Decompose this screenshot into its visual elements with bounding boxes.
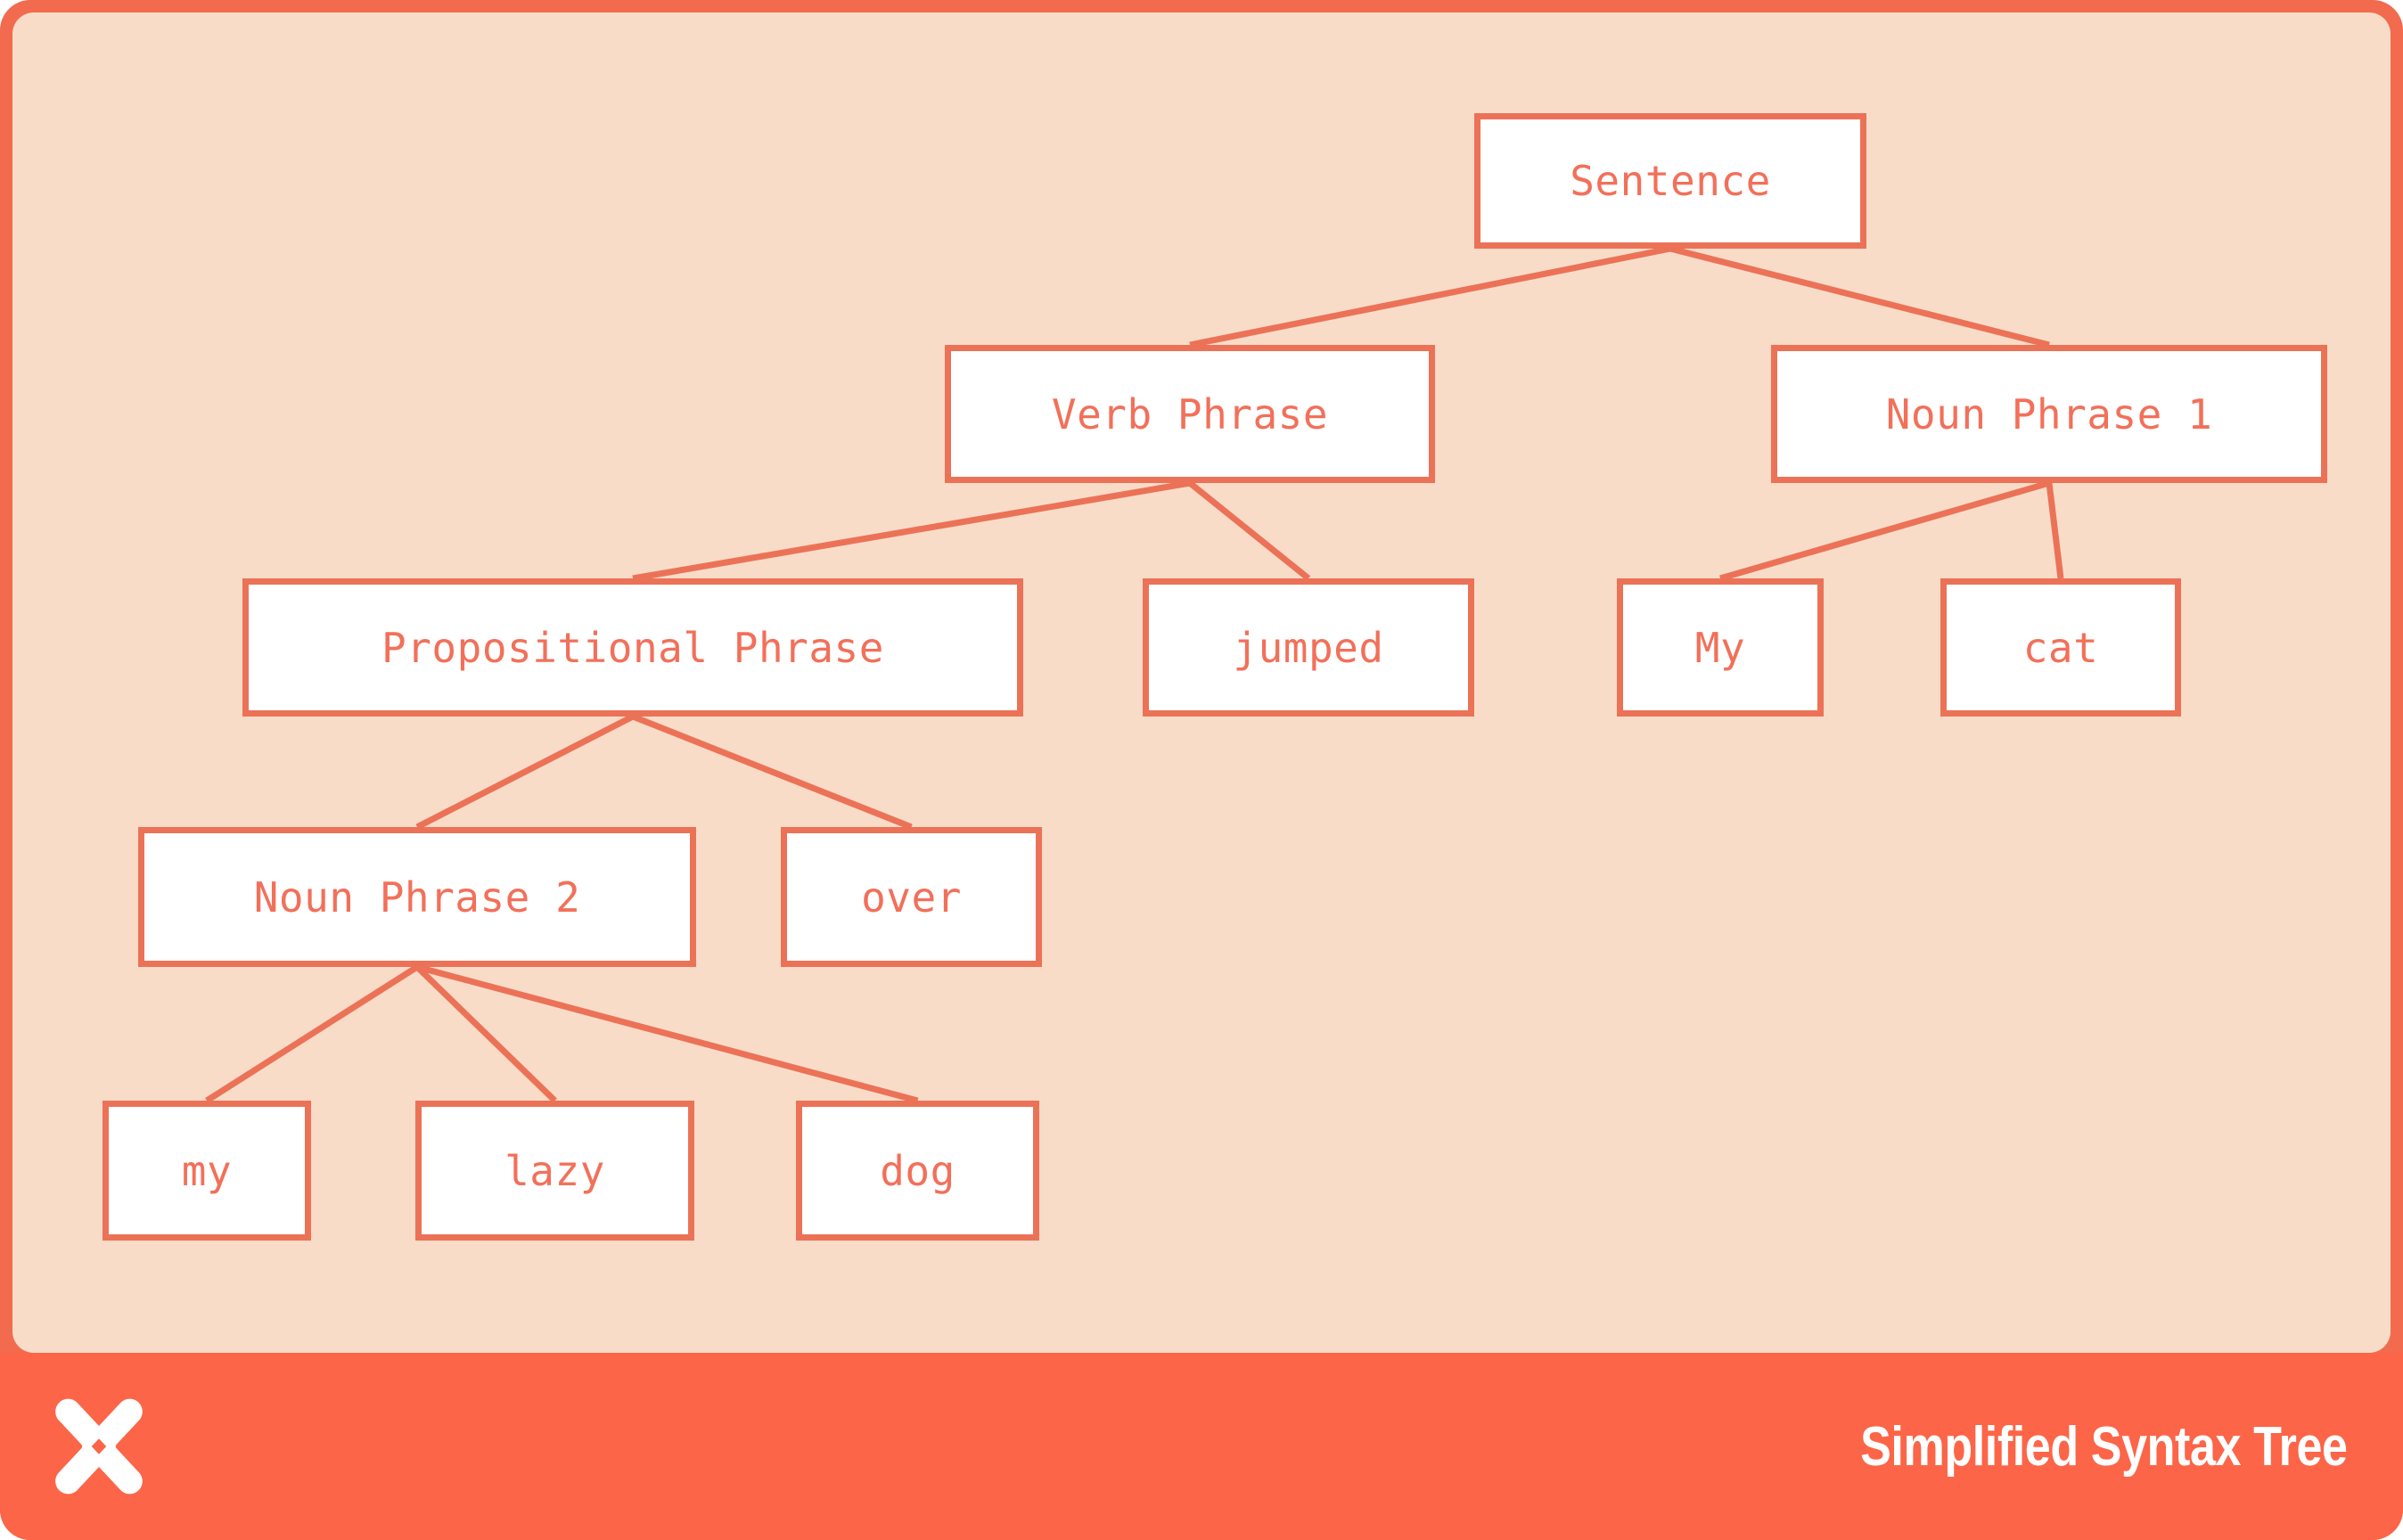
tree-node-dog[interactable]: dog [796, 1101, 1039, 1241]
tree-node-noun_phrase_1[interactable]: Noun Phrase 1 [1771, 345, 2327, 483]
tree-node-label: My [1695, 627, 1745, 668]
tree-edge-noun_phrase_2-to-my [207, 967, 417, 1101]
tree-node-label: Verb Phrase [1052, 394, 1328, 435]
tree-node-label: my [182, 1151, 232, 1192]
tree-node-label: lazy [504, 1151, 605, 1192]
tree-node-label: Sentence [1570, 160, 1771, 201]
syntax-tree-card: SentenceVerb PhraseNoun Phrase 1Proposit… [0, 0, 2403, 1540]
tree-node-label: Noun Phrase 1 [1886, 394, 2213, 435]
tree-node-label: jumped [1233, 627, 1383, 668]
footer-title: Simplified Syntax Tree [1861, 1415, 2348, 1479]
tree-node-verb_phrase[interactable]: Verb Phrase [945, 345, 1435, 483]
footer-bar: Simplified Syntax Tree [0, 1353, 2403, 1540]
tree-edge-sentence-to-verb_phrase [1190, 249, 1670, 345]
x-star-logo-icon [46, 1394, 152, 1499]
tree-node-label: dog [880, 1151, 955, 1192]
tree-edge-noun_phrase_1-to-my_cap [1720, 483, 2049, 578]
tree-node-my[interactable]: my [103, 1101, 311, 1241]
tree-edge-sentence-to-noun_phrase_1 [1670, 249, 2049, 345]
tree-node-jumped[interactable]: jumped [1143, 578, 1474, 717]
tree-node-label: over [861, 877, 962, 918]
tree-node-cat[interactable]: cat [1940, 578, 2181, 717]
tree-edge-verb_phrase-to-jumped [1190, 483, 1308, 578]
tree-node-over[interactable]: over [781, 827, 1042, 967]
tree-node-my_cap[interactable]: My [1617, 578, 1824, 717]
tree-edge-verb_phrase-to-prop_phrase [633, 483, 1190, 578]
tree-node-sentence[interactable]: Sentence [1474, 113, 1866, 249]
tree-node-label: Propositional Phrase [381, 627, 884, 668]
diagram-canvas: SentenceVerb PhraseNoun Phrase 1Proposit… [12, 12, 2391, 1353]
tree-node-label: cat [2023, 627, 2099, 668]
tree-edge-noun_phrase_2-to-dog [417, 967, 918, 1101]
tree-edge-noun_phrase_2-to-lazy [417, 967, 555, 1101]
tree-edge-noun_phrase_1-to-cat [2049, 483, 2061, 578]
tree-node-noun_phrase_2[interactable]: Noun Phrase 2 [138, 827, 696, 967]
tree-edge-prop_phrase-to-over [633, 717, 912, 827]
tree-node-lazy[interactable]: lazy [415, 1101, 694, 1241]
tree-node-prop_phrase[interactable]: Propositional Phrase [242, 578, 1023, 717]
tree-edge-prop_phrase-to-noun_phrase_2 [417, 717, 633, 827]
tree-node-label: Noun Phrase 2 [254, 877, 581, 918]
